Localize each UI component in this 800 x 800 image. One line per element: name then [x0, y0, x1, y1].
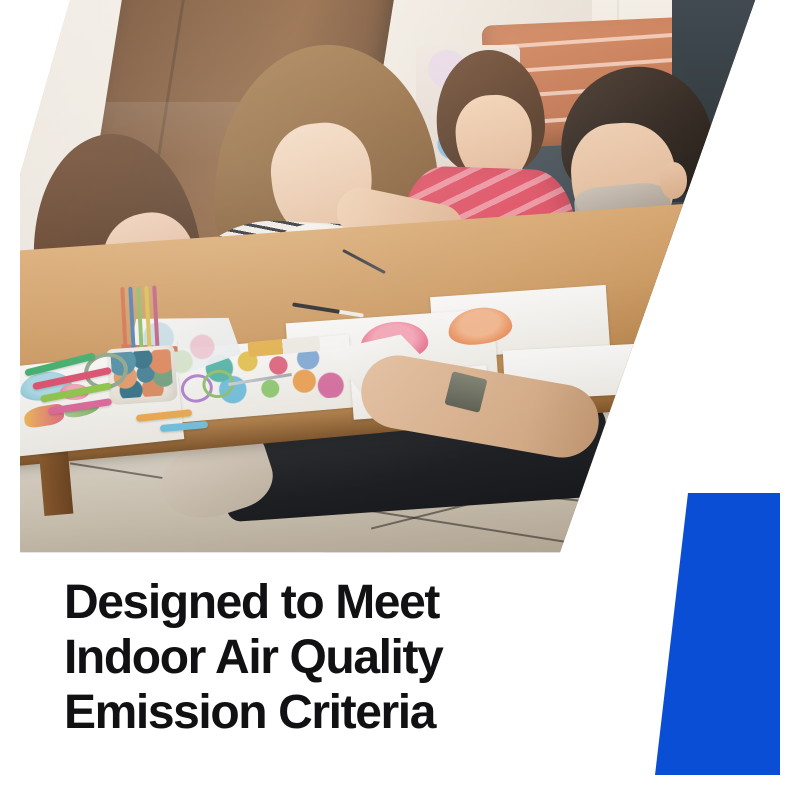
blue-accent-shape	[640, 488, 790, 780]
hero-photo	[0, 0, 800, 560]
poster-canvas: Designed to Meet Indoor Air Quality Emis…	[0, 0, 800, 800]
man-ear	[660, 162, 687, 198]
blue-quadrilateral-icon	[640, 488, 790, 780]
pencil-bundle	[118, 284, 177, 354]
hero-photo-scene	[0, 0, 800, 560]
blue-accent-polygon	[655, 493, 780, 775]
page-title: Designed to Meet Indoor Air Quality Emis…	[64, 575, 684, 740]
